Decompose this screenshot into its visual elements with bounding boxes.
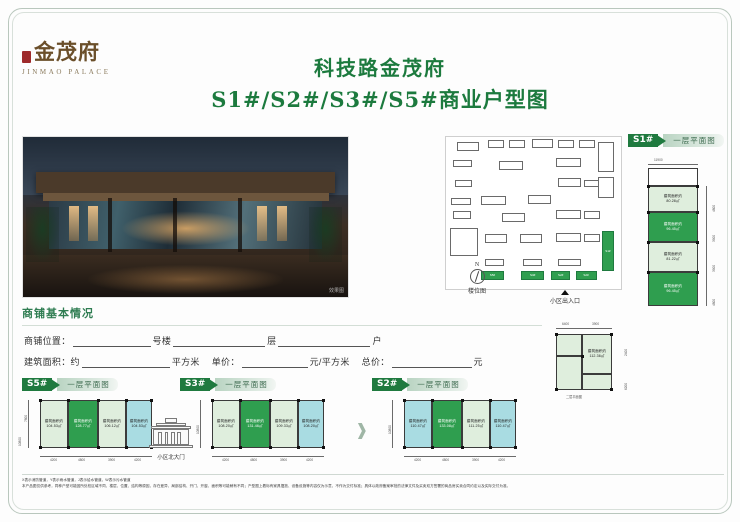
north-gate-label: 小区北大门 (148, 453, 194, 461)
footnotes: X表示消防管道，Y表示雨水管道，J表示给水管道，W表示污水管道 本产品图仅供参考… (22, 474, 722, 490)
site-highlight-s2b[interactable]: S2# (576, 271, 597, 280)
site-building (556, 210, 581, 219)
photo-caption: 效果图 (329, 287, 344, 294)
plan-unit-s1b-c[interactable] (556, 356, 582, 390)
plan-unit-s2-3[interactable]: 建筑面积约 111.25㎡ (462, 400, 490, 448)
dim-top-s1: 11900 (654, 158, 663, 162)
compass-needle (475, 271, 479, 282)
site-building (520, 234, 543, 243)
dim-line-vertical (28, 400, 29, 448)
dim-line (404, 456, 516, 457)
plan-unit-s3-1[interactable]: 建筑面积约 108.20㎡ (212, 400, 240, 448)
panel-banner-s5: S5# 一层平面图 (22, 378, 118, 391)
unit-label: 建筑面积约 96.45㎡ (649, 284, 697, 294)
banner-arrow-icon (209, 379, 218, 391)
plan-unit-core[interactable] (648, 168, 698, 186)
shop-info-form: 商铺基本情况 商铺位置： 号楼 层 户 建筑面积：约 平方米 单价： 元/平方米… (22, 305, 542, 376)
dim-right-s1b-2: 6200 (624, 383, 628, 390)
compass: N 楼位图 (462, 262, 492, 295)
area-input[interactable] (82, 358, 170, 368)
plan-unit-s1-3[interactable]: 建筑面积约 81.22㎡ (648, 242, 698, 272)
photo-column (173, 198, 178, 252)
brand-logo: 金茂府 JINMAO PALACE (22, 36, 142, 76)
unit-label: 建筑面积约 110.47㎡ (405, 419, 431, 429)
panel-banner-text-s1: 一层平面图 (663, 134, 724, 147)
plan-unit-s3-2[interactable]: 建筑面积约 131.46㎡ (240, 400, 270, 448)
dim-top-s1b-1: 6400 (562, 322, 569, 326)
dim-line (556, 328, 612, 329)
floor-plan-s5: 建筑面积约 104.53㎡ 建筑面积约 128.77㎡ 建筑面积约 106.12… (40, 400, 150, 456)
location-room-input[interactable] (278, 337, 370, 347)
dim-line-vertical (706, 186, 707, 306)
unit-label: 建筑面积约 108.20㎡ (299, 419, 323, 429)
title-line-2: S1#/S2#/S3#/S5#商业户型图 (170, 84, 590, 114)
unit-label: 建筑面积约 110.47㎡ (491, 419, 515, 429)
unit-label: 建筑面积约 96.45㎡ (649, 222, 697, 232)
dim-line (212, 456, 324, 457)
dim-bottom-s5-3: 3900 (108, 458, 115, 462)
plan-unit-s5-2[interactable]: 建筑面积约 128.77㎡ (68, 400, 98, 448)
unit-label: 建筑面积约 108.20㎡ (213, 419, 239, 429)
dim-bottom-s3-2: 4800 (250, 458, 257, 462)
unit-label: 建筑面积约 81.22㎡ (649, 252, 697, 262)
form-row-location: 商铺位置： 号楼 层 户 (22, 334, 542, 347)
site-building (502, 213, 525, 222)
site-building (453, 211, 471, 219)
seal-icon (22, 51, 31, 63)
site-building (523, 259, 542, 267)
compass-north-label: N (462, 262, 492, 268)
plan-unit-s1b-d[interactable] (582, 374, 612, 390)
area-unit: 平方米 (170, 355, 202, 368)
site-highlight-label: S3# (522, 273, 543, 277)
site-building (485, 234, 508, 243)
photo-tree (26, 207, 59, 261)
entrance-label: 小区出入口 (520, 296, 610, 305)
site-building (584, 234, 600, 242)
unit-label: 建筑面积约 128.77㎡ (69, 419, 97, 429)
dim-bottom-s2-2: 4800 (442, 458, 449, 462)
location-building-input[interactable] (73, 337, 151, 347)
banner-arrow-icon (657, 135, 666, 147)
dim-left-s3: 10800 (196, 425, 200, 434)
title-line-1: 科技路金茂府 (170, 52, 590, 81)
plan-unit-s2-4[interactable]: 建筑面积约 110.47㎡ (490, 400, 516, 448)
unit-label: 建筑面积约 133.08㎡ (433, 419, 461, 429)
site-building (499, 161, 524, 170)
gate-art (148, 418, 194, 452)
site-building (558, 259, 581, 267)
dim-line-vertical (200, 400, 201, 448)
footnote-divider (22, 474, 724, 475)
unit-label: 建筑面积约 111.25㎡ (463, 419, 489, 429)
area-label: 建筑面积：约 (22, 355, 82, 368)
photo-window (88, 206, 98, 241)
photo-warm-glow (121, 211, 251, 246)
site-building (556, 233, 581, 242)
unit-price-unit: 元/平方米 (308, 355, 352, 368)
panel-banner-text-s5: 一层平面图 (57, 378, 118, 391)
unit-label: 建筑面积约 112.36㎡ (583, 349, 611, 359)
floor-plan-s1-second: 6400 3900 建筑面积约 112.36㎡ 2400 6200 二层平面图 (548, 330, 618, 400)
photo-slab (43, 193, 329, 201)
dim-right-s1-2: 3900 (712, 235, 716, 242)
photo-window (69, 206, 79, 241)
photo-window (277, 206, 287, 241)
dim-bottom-s5-2: 4800 (78, 458, 85, 462)
unit-label: 建筑面积约 104.53㎡ (41, 419, 67, 429)
page-title: 科技路金茂府 S1#/S2#/S3#/S5#商业户型图 (170, 52, 590, 114)
site-building (451, 198, 470, 206)
dim-top-s1b-2: 3900 (592, 322, 599, 326)
panel-banner-text-s1b: 二层平面图 (566, 394, 582, 399)
north-gate-illustration: 小区北大门 (148, 418, 194, 461)
form-divider (22, 325, 542, 326)
site-building (584, 211, 600, 219)
plan-unit-s1b-a[interactable] (556, 334, 582, 356)
site-building (558, 178, 581, 187)
site-building (450, 228, 478, 255)
plan-unit-s3-3[interactable]: 建筑面积约 109.33㎡ (270, 400, 298, 448)
location-floor-input[interactable] (173, 337, 265, 347)
photo-column (108, 198, 113, 252)
site-building (457, 142, 480, 151)
panel-tag-s3: S3# (180, 378, 210, 391)
dim-line (648, 164, 698, 165)
site-building (532, 139, 553, 148)
photo-column (238, 198, 243, 252)
site-building (455, 180, 473, 188)
banner-arrow-icon (51, 379, 60, 391)
compass-icon (470, 269, 485, 284)
site-building (579, 140, 595, 148)
dim-right-s1-1: 4800 (712, 205, 716, 212)
plan-unit-s1b-b[interactable]: 建筑面积约 112.36㎡ (582, 334, 612, 374)
location-building-unit: 号楼 (151, 334, 174, 347)
panel-banner-text-s2: 一层平面图 (407, 378, 468, 391)
site-highlight-label: S2# (577, 273, 596, 277)
location-room-unit: 户 (370, 334, 383, 347)
dim-bottom-s2-3: 3900 (472, 458, 479, 462)
photo-tree (309, 207, 342, 261)
panel-banner-text-s3: 一层平面图 (215, 378, 276, 391)
site-building (481, 196, 506, 205)
unit-price-label: 单价： (202, 355, 242, 368)
site-building (558, 140, 574, 148)
brand-name-en: JINMAO PALACE (22, 68, 142, 76)
form-row-area-price: 建筑面积：约 平方米 单价： 元/平方米 总价： 元 (22, 355, 542, 368)
decorative-swirl-icon: ❱ (355, 420, 368, 440)
unit-label: 建筑面积约 109.33㎡ (271, 419, 297, 429)
total-price-label: 总价： (352, 355, 392, 368)
dim-right-s1-3: 3900 (712, 265, 716, 272)
building-exterior-photo: 效果图 (22, 136, 349, 298)
plan-unit-s2-2[interactable]: 建筑面积约 133.08㎡ (432, 400, 462, 448)
photo-window (257, 206, 267, 241)
dim-right-s1b-1: 2400 (624, 349, 628, 356)
floor-plan-s2: 建筑面积约 110.47㎡ 建筑面积约 133.08㎡ 建筑面积约 111.25… (404, 400, 514, 456)
dim-left-s5-1: 7800 (24, 415, 28, 422)
dim-bottom-s3-1: 4200 (222, 458, 229, 462)
site-highlight-label: S1# (603, 249, 613, 253)
plan-unit-s3-4[interactable]: 建筑面积约 108.20㎡ (298, 400, 324, 448)
dim-bottom-s5-4: 4200 (134, 458, 141, 462)
photo-roof (36, 172, 335, 193)
entrance-arrow-icon (561, 290, 569, 295)
unit-label: 建筑面积约 80.28㎡ (649, 194, 697, 204)
location-floor-unit: 层 (265, 334, 278, 347)
dim-left-s5-2: 10800 (18, 437, 22, 446)
panel-tag-s5: S5# (22, 378, 52, 391)
site-highlight-s1[interactable]: S1# (602, 231, 614, 271)
site-plan-label: 楼位图 (462, 286, 492, 295)
total-price-unit: 元 (472, 355, 485, 368)
panel-tag-s1: S1# (628, 134, 658, 147)
unit-label: 建筑面积约 106.12㎡ (99, 419, 125, 429)
site-highlight-label: S2# (552, 273, 569, 277)
panel-banner-s1: S1# 一层平面图 (628, 134, 724, 147)
unit-price-input[interactable] (242, 358, 308, 368)
site-building (509, 140, 525, 148)
photo-reflection (88, 265, 283, 294)
site-building (528, 195, 551, 204)
site-building (598, 142, 614, 172)
plan-unit-s1-1[interactable]: 建筑面积约 80.28㎡ (648, 186, 698, 212)
dim-bottom-s3-4: 4200 (306, 458, 313, 462)
floor-plan-s1: 11900 建筑面积约 80.28㎡ 建筑面积约 96.45㎡ 建筑面积约 81… (642, 168, 704, 308)
footnote-line-2: 本产品图仅供参考，同种户型可能因所处校区域不同、楼层、位置、结构等原因，存在差异… (22, 484, 722, 490)
banner-arrow-icon (401, 379, 410, 391)
brand-name-cn: 金茂府 (34, 36, 100, 66)
community-entrance-marker: 小区出入口 (520, 290, 610, 305)
dim-bottom-s5-1: 4200 (50, 458, 57, 462)
plan-unit-s5-3[interactable]: 建筑面积约 106.12㎡ (98, 400, 126, 448)
panel-banner-s3: S3# 一层平面图 (180, 378, 276, 391)
dim-bottom-s2-4: 4200 (498, 458, 505, 462)
site-building (556, 158, 581, 167)
plan-unit-s1-2[interactable]: 建筑面积约 96.45㎡ (648, 212, 698, 242)
plan-unit-s5-1[interactable]: 建筑面积约 104.53㎡ (40, 400, 68, 448)
plan-unit-s2-1[interactable]: 建筑面积约 110.47㎡ (404, 400, 432, 448)
dim-left-s2: 10800 (388, 425, 392, 434)
unit-label: 建筑面积约 131.46㎡ (241, 419, 269, 429)
total-price-input[interactable] (392, 358, 472, 368)
site-building (453, 160, 472, 168)
panel-banner-s2: S2# 一层平面图 (372, 378, 468, 391)
site-building (598, 177, 614, 198)
floor-plan-s3: 建筑面积约 108.20㎡ 建筑面积约 131.46㎡ 建筑面积约 109.33… (212, 400, 322, 456)
dim-bottom-s2-1: 4200 (414, 458, 421, 462)
plan-unit-s1-4[interactable]: 建筑面积约 96.45㎡ (648, 272, 698, 306)
dim-bottom-s3-3: 3900 (280, 458, 287, 462)
site-building (488, 140, 504, 148)
site-highlight-s3[interactable]: S3# (521, 271, 544, 280)
location-label: 商铺位置： (22, 334, 73, 347)
form-heading: 商铺基本情况 (22, 305, 542, 321)
dim-line (40, 456, 152, 457)
brochure-page: 金茂府 JINMAO PALACE 科技路金茂府 S1#/S2#/S3#/S5#… (0, 0, 740, 522)
dim-right-s1-4: 4800 (712, 299, 716, 306)
site-highlight-s2[interactable]: S2# (551, 271, 570, 280)
dim-line-vertical (392, 400, 393, 448)
panel-tag-s2: S2# (372, 378, 402, 391)
